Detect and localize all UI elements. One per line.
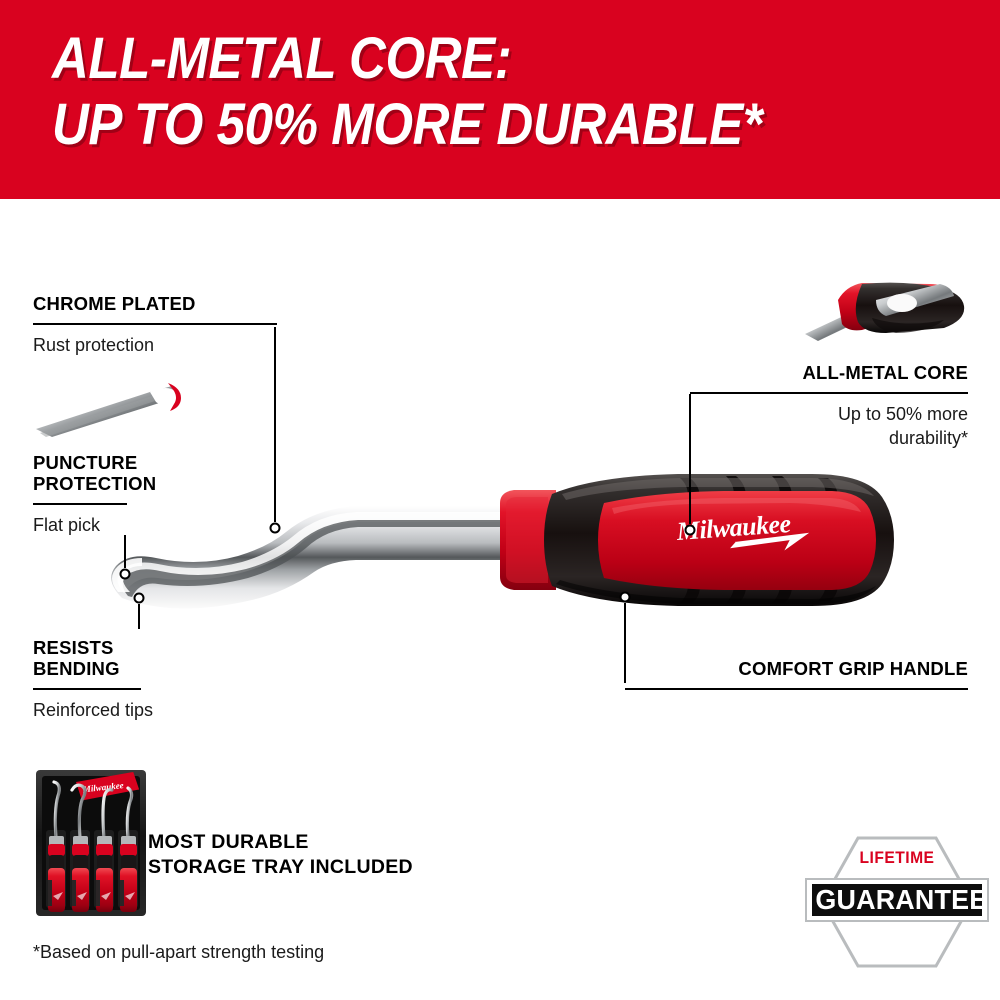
callout-comfort-grip-handle: COMFORT GRIP HANDLE [625, 658, 968, 690]
callout-puncture-protection-rule [33, 503, 127, 505]
chrome-shaft [111, 506, 512, 608]
comfort-grip-handle: Milwaukee [500, 474, 894, 606]
callout-puncture-protection-subtitle: Flat pick [33, 513, 127, 537]
callout-puncture-protection-title-line-2: PROTECTION [33, 473, 127, 494]
callout-resists-bending-rule [33, 688, 141, 690]
callout-all-metal-core: ALL-METAL CORE Up to 50% more durability… [690, 362, 968, 450]
callout-all-metal-core-subtitle-line-2: durability* [690, 426, 968, 450]
callout-comfort-grip-handle-rule [625, 688, 968, 690]
callout-resists-bending-title-line-2: BENDING [33, 658, 141, 679]
callout-puncture-protection-title-line-1: PUNCTURE [33, 452, 127, 473]
callout-resists-bending: RESISTS BENDING Reinforced tips [33, 637, 141, 722]
callout-all-metal-core-title: ALL-METAL CORE [690, 362, 968, 383]
flat-pick-detail-image [36, 383, 181, 437]
callout-chrome-plated-rule [33, 323, 277, 325]
callout-resists-bending-title-line-1: RESISTS [33, 637, 141, 658]
callout-all-metal-core-subtitle-line-1: Up to 50% more [690, 402, 968, 426]
all-metal-core-detail-image [805, 283, 964, 341]
callout-chrome-plated-title: CHROME PLATED [33, 293, 277, 314]
storage-tray-image: Milwaukee [36, 770, 146, 916]
badge-lifetime-text: LIFETIME [813, 848, 980, 868]
tray-caption-line-2: STORAGE TRAY INCLUDED [148, 855, 413, 880]
callout-resists-bending-subtitle: Reinforced tips [33, 698, 141, 722]
callout-chrome-plated: CHROME PLATED Rust protection [33, 293, 277, 357]
callout-chrome-plated-subtitle: Rust protection [33, 333, 277, 357]
tray-caption: MOST DURABLE STORAGE TRAY INCLUDED [148, 830, 413, 880]
tray-caption-line-1: MOST DURABLE [148, 830, 413, 855]
callout-puncture-protection: PUNCTURE PROTECTION Flat pick [33, 452, 127, 537]
callout-all-metal-core-rule [690, 392, 968, 394]
badge-guarantee-text: GUARANTEE [815, 885, 978, 915]
infographic-page: ALL-METAL CORE: UP TO 50% MORE DURABLE* [0, 0, 1000, 1000]
footnote-disclaimer: *Based on pull-apart strength testing [33, 942, 324, 963]
callout-comfort-grip-handle-title: COMFORT GRIP HANDLE [625, 658, 968, 679]
